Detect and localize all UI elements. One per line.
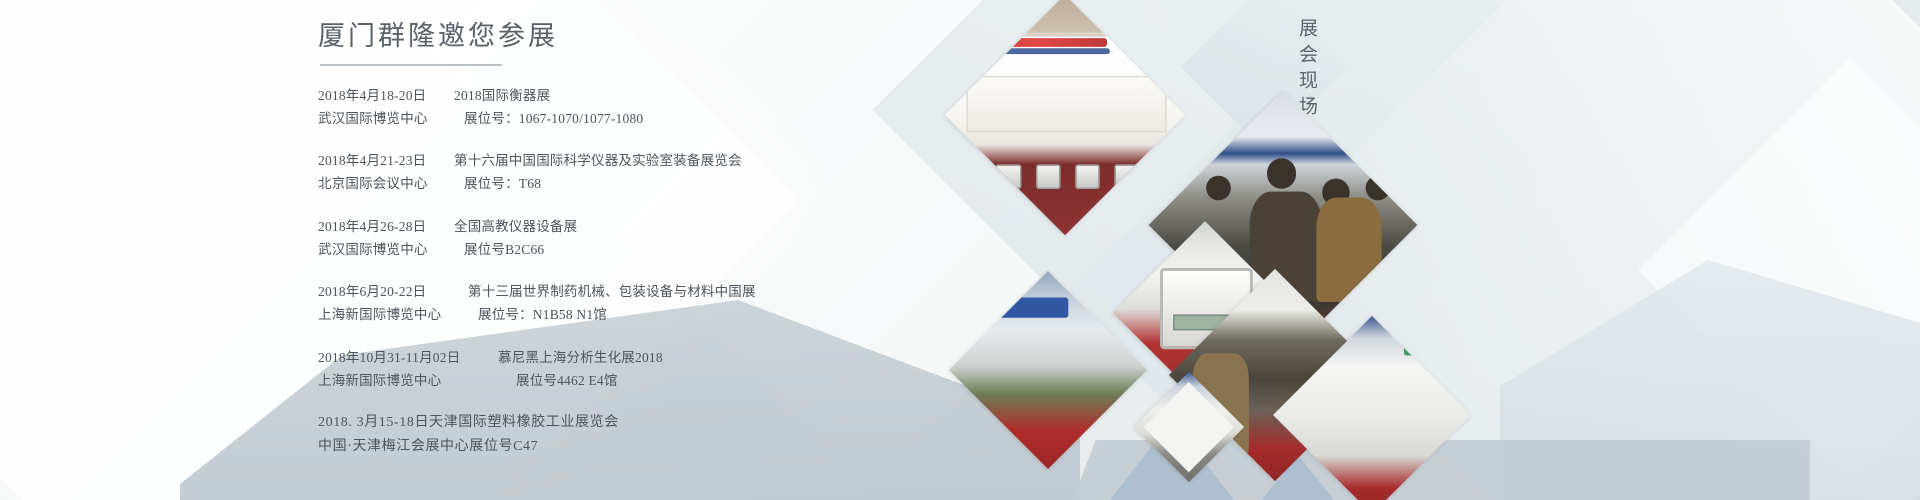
event-booth: 展位号B2C66 (442, 238, 544, 261)
page-title: 厦门群隆邀您参展 (318, 18, 958, 62)
event-date-row: 2018年4月21-23日 第十六届中国国际科学仪器及实验室装备展览会 (318, 149, 958, 172)
event-venue-row: 上海新国际博览中心 展位号：N1B58 N1馆 (318, 303, 958, 326)
event-item: 2018年6月20-22日 第十三届世界制药机械、包装设备与材料中国展 上海新国… (318, 280, 958, 326)
event-date-row: 2018. 3月15-18日天津国际塑料橡胶工业展览会 (318, 411, 958, 435)
event-booth: 展位号：T68 (442, 172, 541, 195)
event-venue: 武汉国际博览中心 (318, 107, 442, 130)
event-venue: 武汉国际博览中心 (318, 238, 442, 261)
event-date: 2018年6月20-22日 (318, 280, 456, 303)
event-item: 2018. 3月15-18日天津国际塑料橡胶工业展览会 中国·天津梅江会展中心 … (318, 411, 958, 459)
event-venue: 北京国际会议中心 (318, 172, 442, 195)
event-venue-row: 中国·天津梅江会展中心 展位号C47 (318, 435, 958, 459)
event-booth: 展位号：N1B58 N1馆 (456, 303, 607, 326)
event-venue: 上海新国际博览中心 (318, 303, 456, 326)
event-date-row: 2018年4月26-28日 全国高教仪器设备展 (318, 215, 958, 238)
event-date-row: 2018年10月31-11月02日 慕尼黑上海分析生化展2018 (318, 346, 958, 369)
background-decoration (0, 0, 1920, 500)
event-date: 2018年4月18-20日 (318, 84, 442, 107)
event-list-panel: 厦门群隆邀您参展 2018年4月18-20日 2018国际衡器展 武汉国际博览中… (318, 18, 958, 478)
event-venue: 上海新国际博览中心 (318, 369, 486, 392)
event-item: 2018年10月31-11月02日 慕尼黑上海分析生化展2018 上海新国际博览… (318, 346, 958, 392)
event-name: 慕尼黑上海分析生化展2018 (486, 346, 663, 369)
title-underline (320, 64, 502, 66)
photo-collage (1020, 0, 1440, 500)
event-date: 2018年10月31-11月02日 (318, 346, 486, 369)
event-date: 2018. 3月15-18日天津国际塑料橡胶工业展览会 (318, 411, 619, 435)
event-booth: 展位号4462 E4馆 (486, 369, 618, 392)
event-name: 第十六届中国国际科学仪器及实验室装备展览会 (442, 149, 742, 172)
event-item: 2018年4月21-23日 第十六届中国国际科学仪器及实验室装备展览会 北京国际… (318, 149, 958, 195)
event-venue-row: 武汉国际博览中心 展位号：1067-1070/1077-1080 (318, 107, 958, 130)
event-venue-row: 上海新国际博览中心 展位号4462 E4馆 (318, 369, 958, 392)
event-item: 2018年4月18-20日 2018国际衡器展 武汉国际博览中心 展位号：106… (318, 84, 958, 130)
event-date-row: 2018年6月20-22日 第十三届世界制药机械、包装设备与材料中国展 (318, 280, 958, 303)
event-item: 2018年4月26-28日 全国高教仪器设备展 武汉国际博览中心 展位号B2C6… (318, 215, 958, 261)
exhibition-banner: 厦门群隆邀您参展 2018年4月18-20日 2018国际衡器展 武汉国际博览中… (0, 0, 1920, 500)
event-venue: 中国·天津梅江会展中心 (318, 435, 469, 459)
event-venue-row: 武汉国际博览中心 展位号B2C66 (318, 238, 958, 261)
event-date-row: 2018年4月18-20日 2018国际衡器展 (318, 84, 958, 107)
event-name: 全国高教仪器设备展 (442, 215, 577, 238)
event-date: 2018年4月26-28日 (318, 215, 442, 238)
event-booth: 展位号C47 (469, 435, 538, 459)
event-name: 第十三届世界制药机械、包装设备与材料中国展 (456, 280, 756, 303)
event-name: 2018国际衡器展 (442, 84, 550, 107)
event-date: 2018年4月21-23日 (318, 149, 442, 172)
event-booth: 展位号：1067-1070/1077-1080 (442, 107, 643, 130)
event-venue-row: 北京国际会议中心 展位号：T68 (318, 172, 958, 195)
